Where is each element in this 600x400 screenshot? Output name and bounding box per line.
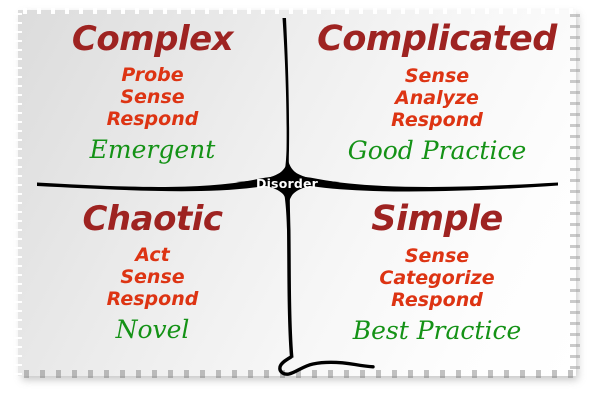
step-item: Sense xyxy=(40,87,265,109)
quadrant-complicated-title: Complicated xyxy=(312,22,562,57)
step-item: Analyze xyxy=(312,88,562,110)
quadrant-chaotic[interactable]: Chaotic Act Sense Respond Novel xyxy=(40,202,265,342)
step-item: Sense xyxy=(40,267,265,289)
quadrant-complex-practice: Emergent xyxy=(40,137,265,162)
disorder-label: Disorder xyxy=(256,176,318,191)
quadrant-complicated[interactable]: Complicated Sense Analyze Respond Good P… xyxy=(312,22,562,163)
quadrant-simple[interactable]: Simple Sense Categorize Respond Best Pra… xyxy=(312,202,562,343)
vertical-divider-top xyxy=(283,18,291,178)
step-item: Categorize xyxy=(312,268,562,290)
step-item: Probe xyxy=(40,65,265,87)
quadrant-simple-practice: Best Practice xyxy=(312,318,562,343)
step-item: Act xyxy=(40,245,265,267)
quadrant-complex-steps: Probe Sense Respond xyxy=(40,65,265,131)
quadrant-simple-title: Simple xyxy=(312,202,562,237)
step-item: Sense xyxy=(312,246,562,268)
step-item: Respond xyxy=(312,110,562,132)
step-item: Respond xyxy=(40,109,265,131)
quadrant-chaotic-practice: Novel xyxy=(40,317,265,342)
step-item: Respond xyxy=(312,290,562,312)
vertical-divider-bottom xyxy=(283,186,294,358)
quadrant-complicated-steps: Sense Analyze Respond xyxy=(312,66,562,132)
quadrant-complicated-practice: Good Practice xyxy=(312,138,562,163)
bottom-curl-hook xyxy=(280,357,373,374)
quadrant-chaotic-steps: Act Sense Respond xyxy=(40,245,265,311)
step-item: Sense xyxy=(312,66,562,88)
quadrant-simple-steps: Sense Categorize Respond xyxy=(312,246,562,312)
quadrant-complex[interactable]: Complex Probe Sense Respond Emergent xyxy=(40,22,265,162)
quadrant-chaotic-title: Chaotic xyxy=(40,202,265,236)
cynefin-diagram-canvas: Complex Probe Sense Respond Emergent Com… xyxy=(0,0,600,400)
quadrant-complex-title: Complex xyxy=(40,22,265,56)
step-item: Respond xyxy=(40,289,265,311)
